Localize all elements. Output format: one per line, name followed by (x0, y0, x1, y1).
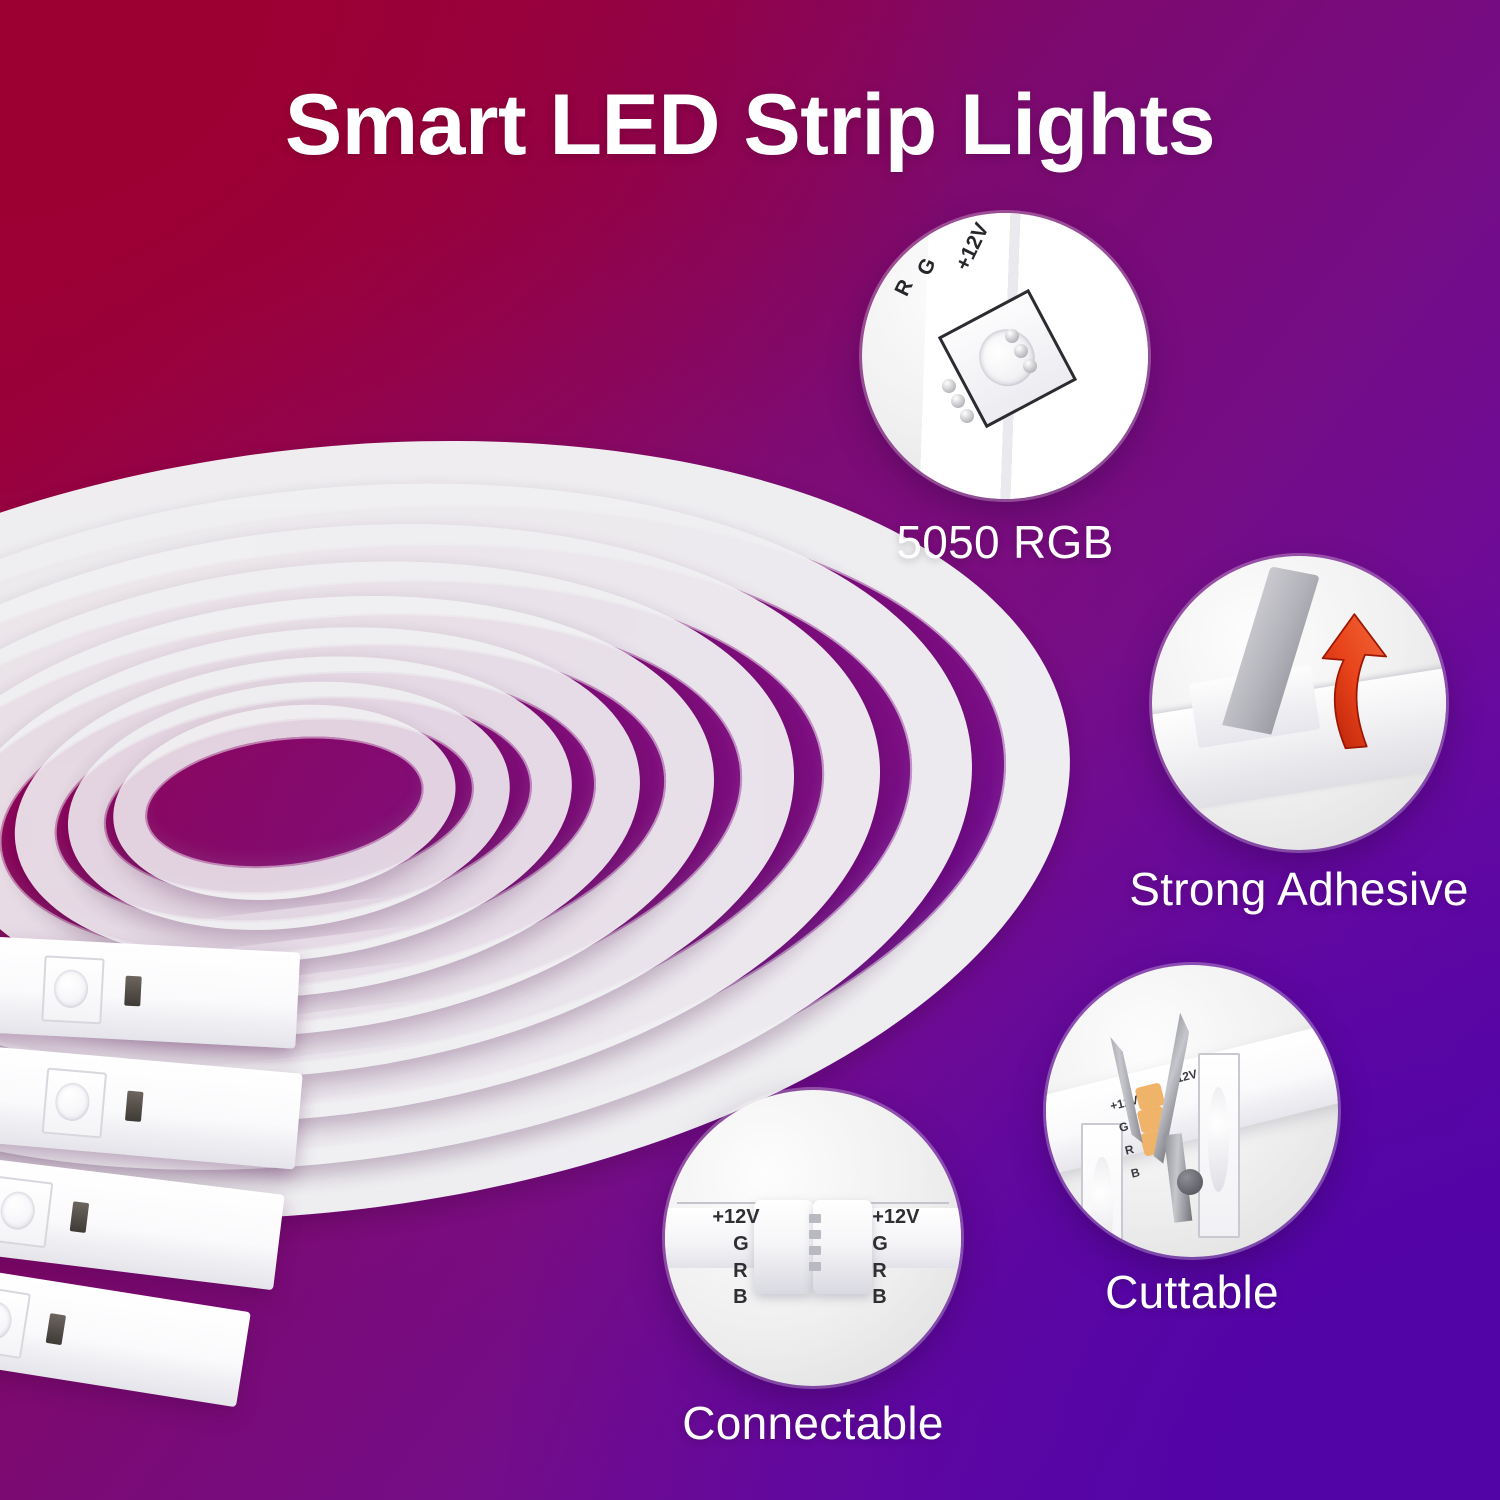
feature-connectable-label: Connectable (682, 1396, 944, 1450)
led-chip-icon (1198, 1053, 1240, 1238)
product-image: Smart LED Strip Lights +12V+12VGGRRBB+12… (0, 0, 1500, 1500)
pin-label-right-b: B (872, 1282, 886, 1312)
led-die-dot (942, 379, 956, 393)
feature-5050-rgb-image: +12V G R (862, 213, 1148, 499)
connector-pin (809, 1246, 821, 1255)
led-die-dot (1005, 329, 1019, 343)
resistor-icon (69, 1201, 89, 1233)
connector-left (754, 1200, 813, 1295)
page-title: Smart LED Strip Lights (0, 76, 1500, 175)
led-chip-icon (41, 955, 104, 1024)
pin-label-left-b: B (733, 1282, 747, 1312)
pin-label-right-r: R (872, 1256, 886, 1286)
connector-pin (809, 1262, 821, 1271)
feature-cuttable-image: +12V G R B +12V (1046, 965, 1338, 1257)
pin-label-right-12v: +12V (872, 1202, 919, 1232)
feature-5050-rgb-label: 5050 RGB (896, 515, 1113, 569)
resistor-icon (46, 1313, 66, 1345)
pin-label-left-r: R (733, 1256, 747, 1286)
feature-connectable: +12V G R B +12V G R B Connectable (665, 1090, 961, 1440)
led-die-dot (960, 409, 974, 423)
pin-label-b: B (1129, 1166, 1141, 1182)
connector-right (813, 1200, 872, 1295)
led-chip-icon (42, 1068, 108, 1139)
feature-cuttable-label: Cuttable (1105, 1265, 1279, 1319)
pin-label-left-12v: +12V (712, 1202, 759, 1232)
connector-pin (809, 1214, 821, 1223)
led-die-dot (1014, 344, 1028, 358)
feature-connectable-image: +12V G R B +12V G R B (665, 1090, 961, 1386)
peel-arrow-icon (1305, 603, 1393, 756)
led-die-dot (1023, 359, 1037, 373)
feature-5050-rgb: +12V G R 5050 RGB (862, 213, 1148, 573)
led-chip-icon (1081, 1123, 1123, 1257)
feature-strong-adhesive-label: Strong Adhesive (1129, 862, 1469, 916)
feature-strong-adhesive: Strong Adhesive (1152, 556, 1446, 896)
connector-pins (809, 1214, 821, 1278)
pin-label-left-g: G (733, 1229, 749, 1259)
connector-pin (809, 1230, 821, 1239)
led-chip-icon (0, 1175, 53, 1248)
led-chip-icon (0, 1284, 31, 1359)
led-die-dot (951, 394, 965, 408)
feature-strong-adhesive-image (1152, 556, 1446, 850)
feature-cuttable: +12V G R B +12V Cuttable (1046, 965, 1338, 1305)
resistor-icon (124, 976, 142, 1007)
coil-turn-highlight (138, 721, 432, 883)
resistor-icon (125, 1091, 144, 1122)
pin-label-right-g: G (872, 1229, 888, 1259)
